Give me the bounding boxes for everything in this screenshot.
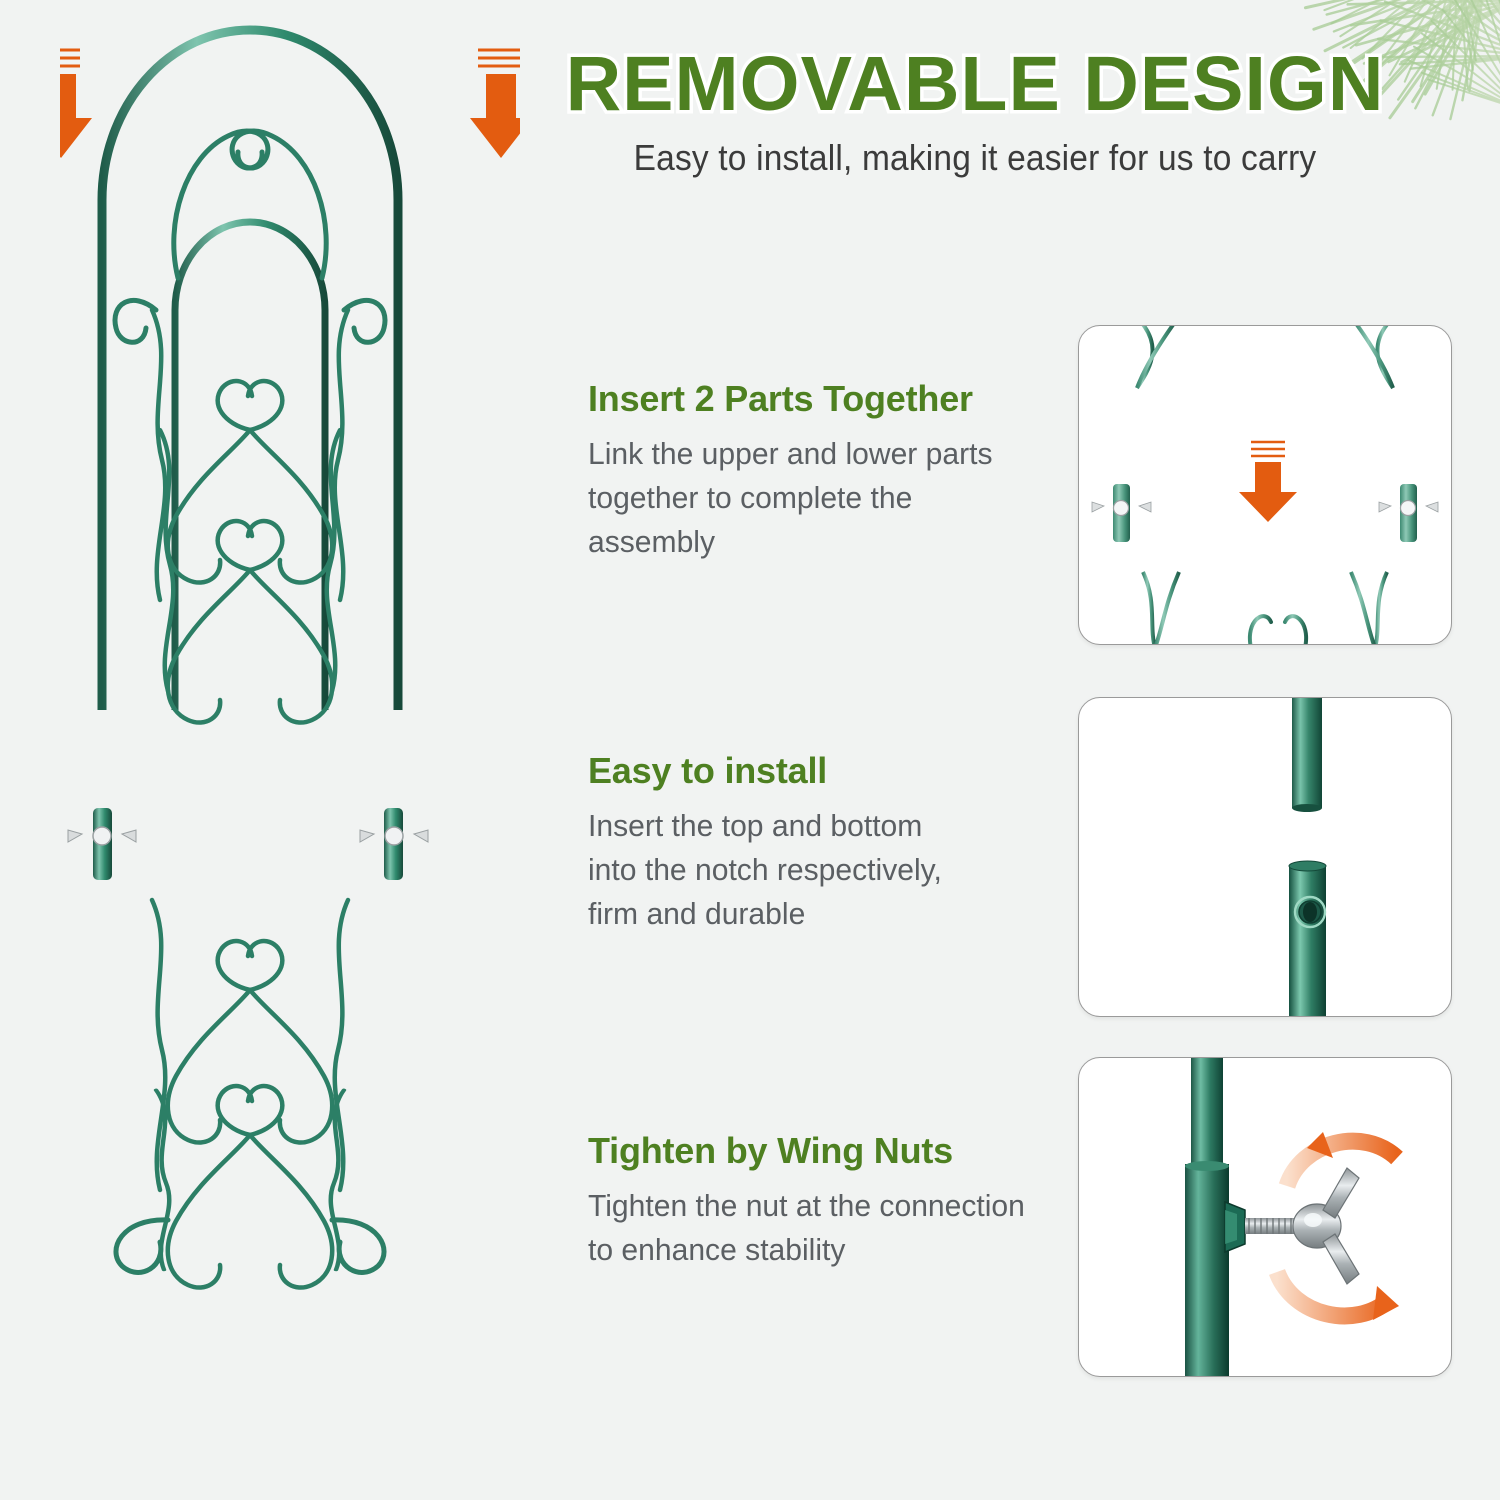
down-arrow-right [470,50,520,158]
feature-insert-2-parts-together: Insert 2 Parts Together Link the upper a… [588,378,1058,564]
wing-nut-diagram [1079,1058,1451,1376]
trellis-joint-diagram [1079,326,1451,644]
threaded-shaft-icon [1245,1218,1297,1234]
feature-title: Tighten by Wing Nuts [588,1130,1068,1172]
header: REMOVABLE DESIGN Easy to install, making… [470,46,1480,179]
wing-nut-icon [1379,501,1438,516]
down-arrow-left [60,50,92,158]
wing-nut-left [68,827,136,845]
feature-body: Link the upper and lower parts together … [588,432,1044,564]
tube-and-socket-diagram [1079,698,1451,1016]
feature-body: Tighten the nut at the connection to enh… [588,1184,1054,1272]
hex-nut-icon [1225,1202,1245,1252]
feature-title: Easy to install [588,750,988,792]
threaded-hole-icon [1295,897,1325,927]
garden-trellis-illustration [60,10,520,1470]
feature-easy-to-install: Easy to install Insert the top and botto… [588,750,988,936]
card-easy-install [1078,697,1452,1017]
lower-socket-tube-icon [1289,861,1326,1016]
wing-nut-right [360,827,428,845]
upper-tube-icon [1292,698,1322,812]
page-title: REMOVABLE DESIGN [470,46,1480,123]
trellis-lower-panel [102,888,398,1440]
card-wing-nuts [1078,1057,1452,1377]
feature-tighten-by-wing-nuts: Tighten by Wing Nuts Tighten the nut at … [588,1130,1068,1272]
wing-nut-icon [1293,1168,1359,1284]
wing-nut-icon [1092,501,1151,516]
infographic-stage: REMOVABLE DESIGN Easy to install, making… [0,0,1500,1500]
trellis-upper-panel [102,30,398,810]
card-insert-parts [1078,325,1452,645]
feature-title: Insert 2 Parts Together [588,378,1058,420]
down-arrow-icon [1239,442,1297,522]
page-subtitle: Easy to install, making it easier for us… [505,137,1444,179]
feature-body: Insert the top and bottom into the notch… [588,804,976,936]
